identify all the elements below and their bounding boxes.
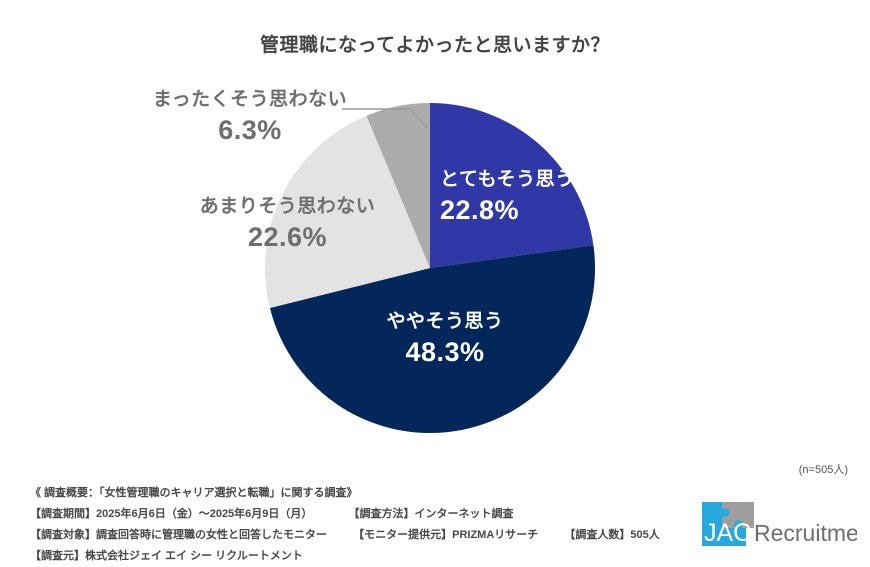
footer-line-4: 【調査元】株式会社ジェイ エイ シー リクルートメント [30, 546, 690, 567]
survey-method-text: 【調査方法】インターネット調査 [349, 504, 514, 525]
footer-line-3: 【調査対象】調査回答時に管理職の女性と回答したモニター 【モニター提供元】PRI… [30, 525, 690, 546]
jac-recruitment-logo: JAC Recruitment [702, 500, 857, 552]
sample-size-note: (n=505人) [799, 461, 848, 477]
survey-overview-footer: 《 調査概要：「女性管理職のキャリア選択と転職」に関する調査》 【調査期間】20… [30, 483, 690, 567]
survey-target-text: 【調査対象】調査回答時に管理職の女性と回答したモニター [30, 525, 327, 546]
leader-line-notatall [340, 96, 450, 138]
pie-chart-svg [263, 101, 597, 435]
logo-recruitment-text: Recruitment [754, 520, 857, 546]
survey-period-text: 【調査期間】2025年6月6日（金）〜2025年6月9日（月） [30, 504, 312, 525]
footer-line-1: 《 調査概要：「女性管理職のキャリア選択と転職」に関する調査》 [30, 483, 690, 504]
jac-logo-svg: JAC Recruitment [702, 500, 857, 552]
pie-slice-very [430, 103, 593, 268]
survey-source-text: 【調査元】株式会社ジェイ エイ シー リクルートメント [30, 546, 303, 567]
monitor-provider-text: 【モニター提供元】PRIZMAリサーチ [353, 525, 538, 546]
logo-jac-text: JAC [704, 519, 751, 547]
footer-line-2: 【調査期間】2025年6月6日（金）〜2025年6月9日（月） 【調査方法】イン… [30, 504, 690, 525]
respondent-count-text: 【調査人数】505人 [564, 525, 659, 546]
pie-chart [263, 101, 597, 435]
page-title: 管理職になってよかったと思いますか？ [0, 30, 870, 57]
survey-summary-text: 《 調査概要：「女性管理職のキャリア選択と転職」に関する調査》 [30, 483, 358, 504]
